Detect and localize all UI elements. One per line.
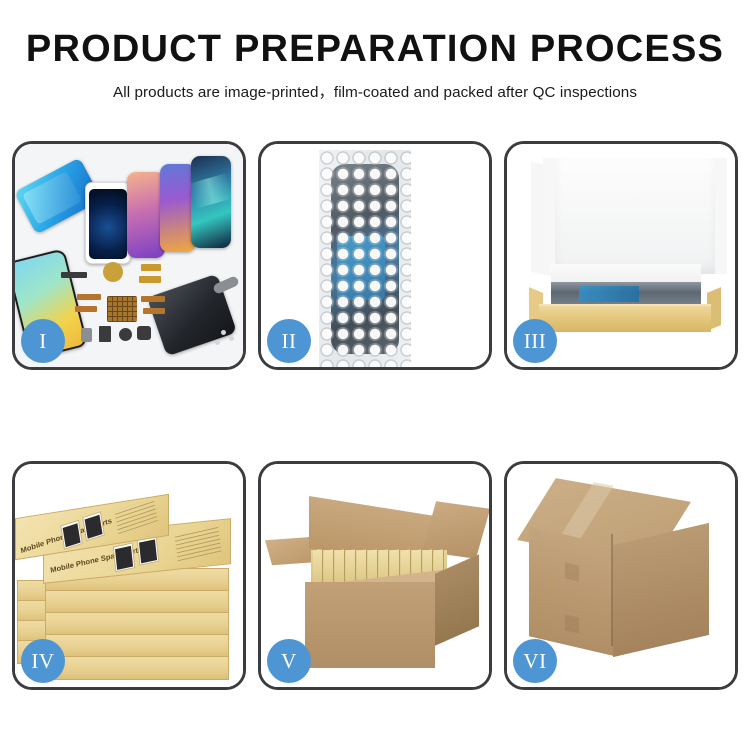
flex-cable-part-4	[143, 308, 165, 314]
page-header: PRODUCT PREPARATION PROCESS All products…	[0, 0, 750, 102]
step-panel-6: VI	[504, 461, 738, 690]
carton-edge-seam	[611, 534, 613, 646]
retail-box-stack-item	[45, 634, 229, 658]
step-panel-2: II	[258, 141, 492, 370]
screw-part-1	[221, 330, 226, 335]
packed-box-slat	[324, 549, 334, 584]
step-image-3: III	[507, 144, 735, 367]
step-panel-3: III	[504, 141, 738, 370]
packed-box-slat	[346, 549, 356, 584]
carton-tab-upper	[565, 562, 579, 581]
screw-part-2	[229, 336, 234, 341]
chip-grid-part	[107, 296, 137, 322]
step-badge-2: II	[267, 319, 311, 363]
carton-face-left	[529, 526, 613, 655]
vibrator-part	[137, 326, 151, 340]
step-badge-4: IV	[21, 639, 65, 683]
box-phone-image-2b	[137, 536, 160, 566]
retail-box-stack-item	[45, 612, 229, 636]
box-phone-image-1a	[60, 520, 83, 550]
bubble-wrap-bag	[319, 150, 411, 367]
flex-cable-part-1	[77, 294, 101, 300]
flex-strip-part-2	[141, 264, 161, 271]
phone-screen-white-frame	[85, 182, 131, 264]
step-panel-1: I	[12, 141, 246, 370]
step-badge-6: VI	[513, 639, 557, 683]
page-title: PRODUCT PREPARATION PROCESS	[0, 30, 750, 70]
phone-screen-teal-wave	[191, 156, 231, 248]
packed-box-slat	[313, 549, 323, 584]
step-badge-5: V	[267, 639, 311, 683]
step-badge-3: III	[513, 319, 557, 363]
sim-tray-part	[81, 328, 92, 342]
box-spec-lines-1	[114, 498, 158, 534]
page-subtitle: All products are image-printed，film-coat…	[0, 80, 750, 102]
speaker-coil-part	[103, 262, 123, 282]
flex-strip-part-3	[139, 276, 161, 283]
step-image-1: I	[15, 144, 243, 367]
step-panel-5: V	[258, 461, 492, 690]
carton-face-right	[613, 523, 709, 657]
box-spec-lines-2	[175, 526, 222, 561]
step-panel-4: Mobile Phone Spare Parts Mobile Phone Sp…	[12, 461, 246, 690]
packed-box-slat	[335, 549, 345, 584]
box-phone-image-2a	[113, 542, 136, 572]
box-lid-open	[543, 158, 727, 274]
flex-cable-part-2	[75, 306, 97, 312]
step-badge-1: I	[21, 319, 65, 363]
flex-strip-part-1	[61, 272, 87, 278]
box-phone-image-1b	[82, 511, 105, 541]
step-image-5: V	[261, 464, 489, 687]
flex-cable-part-3	[141, 296, 165, 302]
carton-tab-lower	[565, 614, 579, 633]
retail-box-stack-item	[45, 656, 229, 680]
small-button-part	[99, 326, 111, 342]
retail-box-stack-item	[45, 590, 229, 614]
carton-front	[305, 582, 435, 668]
step-image-6: VI	[507, 464, 735, 687]
process-steps-grid: I II III	[12, 141, 738, 690]
bubble-highlights	[319, 150, 411, 367]
step-image-2: II	[261, 144, 489, 367]
box-front-panel	[539, 304, 711, 332]
camera-module-part	[119, 328, 132, 341]
step-image-4: Mobile Phone Spare Parts Mobile Phone Sp…	[15, 464, 243, 687]
screw-part-3	[215, 340, 220, 345]
